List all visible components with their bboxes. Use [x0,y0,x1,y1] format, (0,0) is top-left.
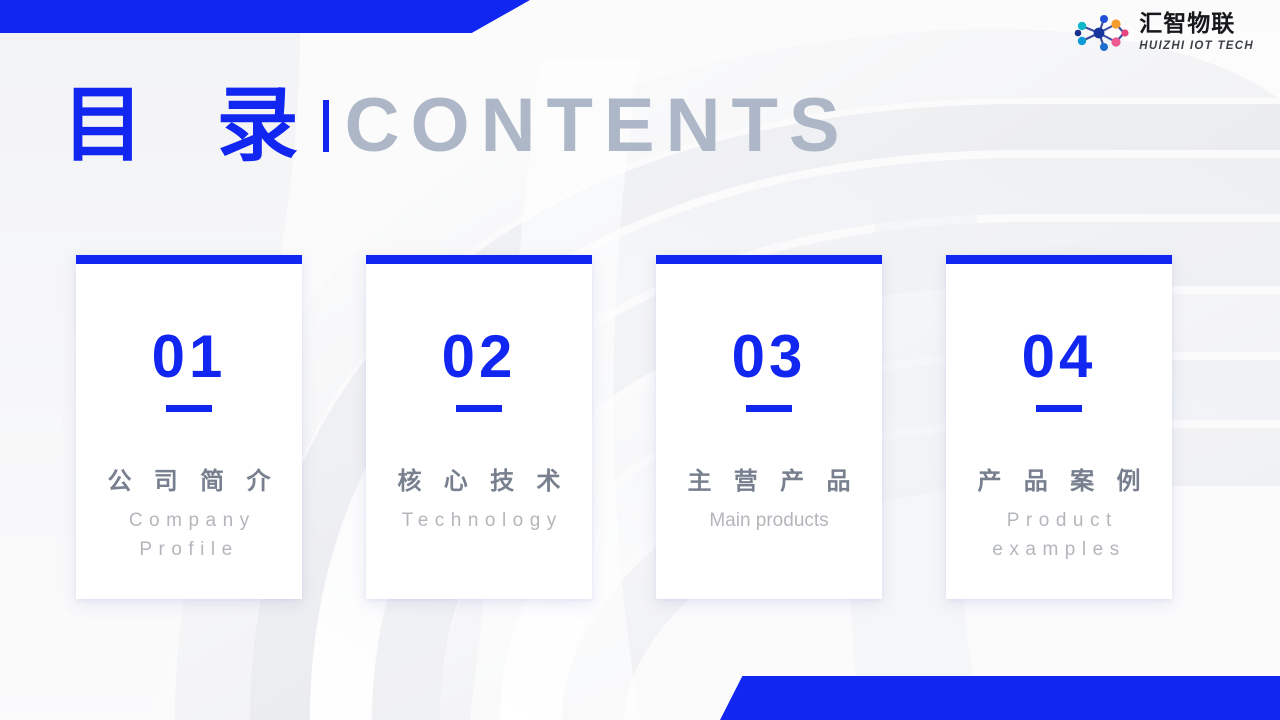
logo-name-cn: 汇智物联 [1139,12,1235,37]
page-title-cn: 目 录 [62,80,321,172]
card-title-en: Main products [669,506,869,535]
card-title-cn: 核 心 技 术 [390,466,567,496]
molecular-network-icon [1074,13,1132,53]
card-underline [1036,405,1082,412]
card-underline [166,405,212,412]
logo-name-en: HUIZHI IOT TECH [1139,39,1254,53]
card-underline [456,405,502,412]
card-top-accent [76,255,302,264]
card-number: 01 [152,325,227,389]
card-top-accent [946,255,1172,264]
title-separator [323,100,329,152]
card-underline [746,405,792,412]
card-title-cn: 主 营 产 品 [680,466,857,496]
contents-card-01[interactable]: 01 公 司 简 介 Company Profile [76,255,302,599]
top-accent-bar [0,0,530,33]
card-title-en: Company Profile [89,506,289,564]
contents-card-04[interactable]: 04 产 品 案 例 Product examples [946,255,1172,599]
card-title-en: Technology [379,506,579,535]
contents-card-02[interactable]: 02 核 心 技 术 Technology [366,255,592,599]
card-number: 02 [442,325,517,389]
card-top-accent [366,255,592,264]
contents-card-row: 01 公 司 简 介 Company Profile 02 核 心 技 术 Te… [76,255,1172,599]
card-number: 04 [1022,325,1097,389]
bottom-accent-bar [720,676,1280,720]
card-title-cn: 产 品 案 例 [970,466,1147,496]
contents-card-03[interactable]: 03 主 营 产 品 Main products [656,255,882,599]
page-title-en: CONTENTS [345,83,851,169]
card-number: 03 [732,325,807,389]
card-title-cn: 公 司 简 介 [100,466,277,496]
company-logo: 汇智物联 HUIZHI IOT TECH [1074,12,1254,53]
page-title: 目 录 CONTENTS [62,80,851,172]
card-title-en: Product examples [959,506,1159,564]
card-top-accent [656,255,882,264]
